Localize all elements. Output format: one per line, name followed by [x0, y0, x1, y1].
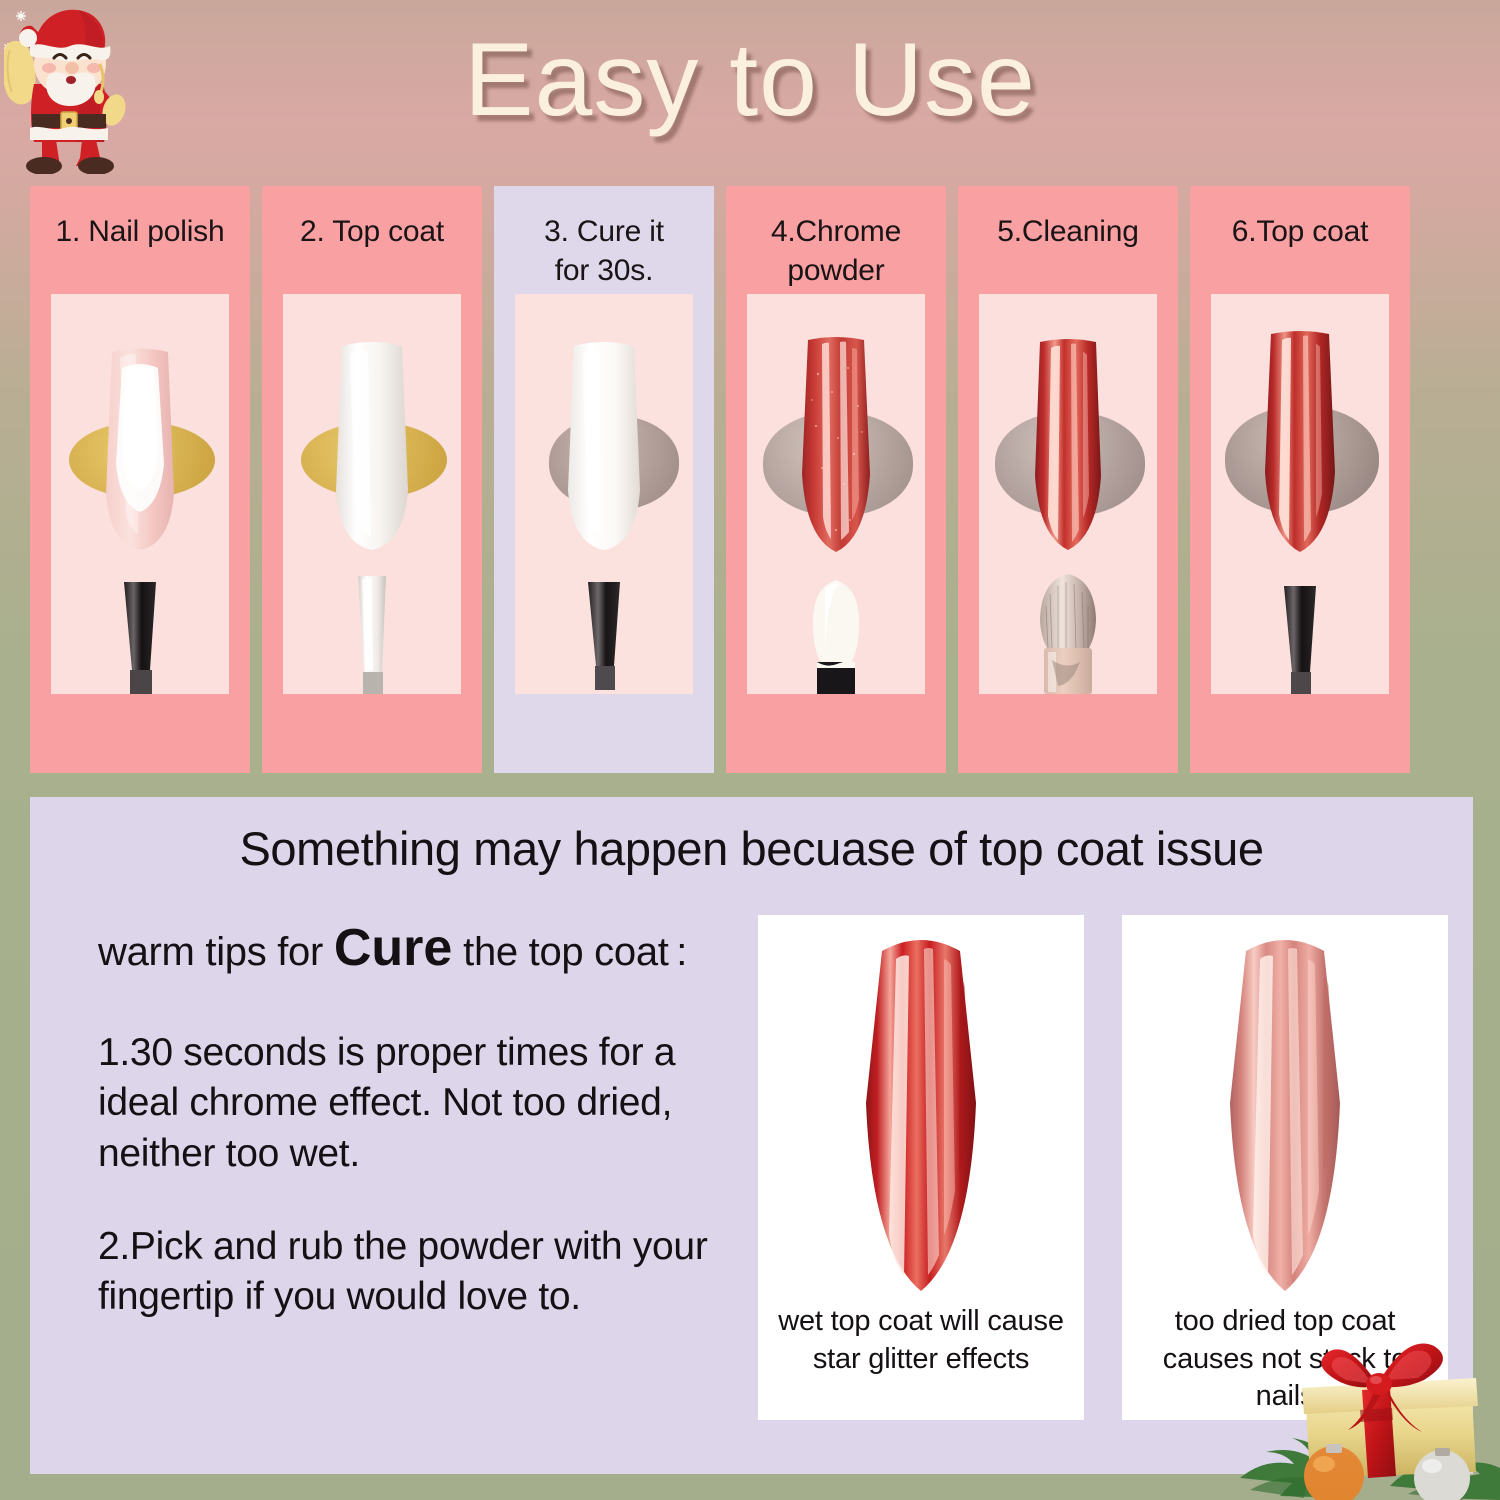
black-brush-handle-icon	[1272, 586, 1328, 694]
step-card-6: 6.Top coat	[1190, 186, 1410, 773]
step-card-2: 2. Top coat	[262, 186, 482, 773]
tips-lead-after: the top coat :	[452, 930, 687, 974]
comparison-card-dried: too dried top coat causes not stuck to n…	[1122, 915, 1448, 1420]
bright-red-chrome-nail-icon	[758, 933, 1084, 1303]
steps-row: 1. Nail polish	[30, 186, 1473, 773]
white-glossy-nail-icon	[328, 336, 416, 556]
black-brush-handle-icon	[112, 582, 168, 694]
step-photo-3	[515, 294, 693, 694]
white-topcoat-brush-icon	[344, 576, 400, 694]
pink-tip-white-polish-icon	[98, 344, 182, 556]
white-cured-nail-icon	[560, 336, 648, 556]
step-photo-5	[979, 294, 1157, 694]
step-label-1: 1. Nail polish	[30, 186, 250, 294]
step-photo-4	[747, 294, 925, 694]
tips-lead-before: warm tips for	[98, 930, 334, 974]
panel-heading: Something may happen becuase of top coat…	[30, 821, 1473, 876]
white-sponge-applicator-icon	[803, 578, 869, 694]
step-photo-2	[283, 294, 461, 694]
tip-item-1: 1.30 seconds is proper times for a ideal…	[98, 1028, 758, 1180]
step-label-2: 2. Top coat	[262, 186, 482, 294]
step-photo-6	[1211, 294, 1389, 694]
step-label-3: 3. Cure it for 30s.	[494, 186, 714, 294]
dusty-pink-chrome-nail-icon	[1122, 933, 1448, 1303]
step-card-3: 3. Cure it for 30s.	[494, 186, 714, 773]
step-label-4: 4.Chrome powder	[726, 186, 946, 294]
tips-lead-bold: Cure	[334, 919, 452, 977]
page-title: Easy to Use	[0, 24, 1500, 136]
black-brush-handle-icon	[576, 582, 632, 690]
red-glitter-chrome-nail-icon	[792, 334, 880, 556]
step-photo-1	[51, 294, 229, 694]
step-card-4: 4.Chrome powder	[726, 186, 946, 773]
tip-item-2: 2.Pick and rub the powder with your fing…	[98, 1222, 758, 1323]
page-header: Easy to Use	[0, 0, 1500, 182]
fan-dust-brush-icon	[1026, 574, 1110, 694]
comparison-caption-dried: too dried top coat causes not stuck to n…	[1122, 1303, 1448, 1416]
comparison-row: wet top coat will cause star glitter eff…	[758, 915, 1448, 1420]
step-card-1: 1. Nail polish	[30, 186, 250, 773]
comparison-caption-wet: wet top coat will cause star glitter eff…	[758, 1303, 1084, 1378]
step-label-6: 6.Top coat	[1190, 186, 1410, 294]
topcoat-issue-panel: Something may happen becuase of top coat…	[30, 797, 1473, 1474]
tips-lead: warm tips for Cure the top coat :	[98, 915, 758, 982]
red-mirror-chrome-nail-icon	[1025, 336, 1111, 554]
step-card-5: 5.Cleaning	[958, 186, 1178, 773]
step-label-5: 5.Cleaning	[958, 186, 1178, 294]
warm-tips-block: warm tips for Cure the top coat : 1.30 s…	[98, 915, 758, 1365]
red-chrome-topcoat-nail-icon	[1255, 330, 1345, 556]
comparison-card-wet: wet top coat will cause star glitter eff…	[758, 915, 1084, 1420]
